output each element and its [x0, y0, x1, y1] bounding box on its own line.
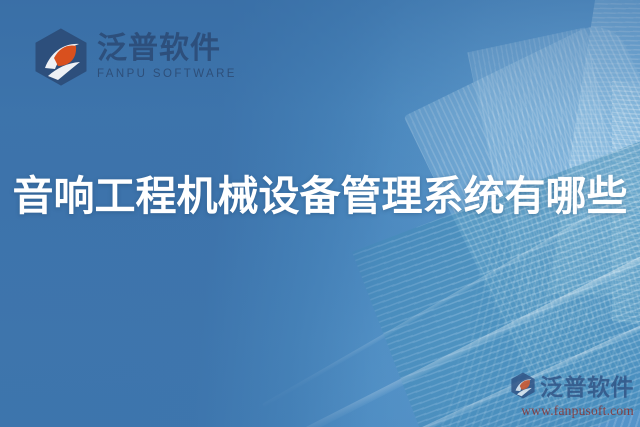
brand-name-cn: 泛普软件 — [97, 34, 237, 64]
brand-logo: 泛普软件 FANPU SOFTWARE — [34, 28, 237, 86]
watermark-url: www.fanpusoft.com — [484, 403, 634, 419]
promo-banner: 泛普软件 FANPU SOFTWARE 音响工程机械设备管理系统有哪些 泛普软件… — [0, 0, 640, 427]
brand-name-en: FANPU SOFTWARE — [97, 69, 237, 81]
watermark-logo-row: 泛普软件 — [484, 368, 634, 402]
brand-wordmark: 泛普软件 FANPU SOFTWARE — [97, 34, 237, 81]
watermark: 泛普软件 www.fanpusoft.com — [484, 368, 634, 419]
fanpu-hexagon-logo-icon — [510, 372, 536, 399]
watermark-company-name: 泛普软件 — [540, 368, 634, 402]
fanpu-hexagon-logo-icon — [34, 28, 88, 86]
banner-headline: 音响工程机械设备管理系统有哪些 — [0, 172, 640, 220]
